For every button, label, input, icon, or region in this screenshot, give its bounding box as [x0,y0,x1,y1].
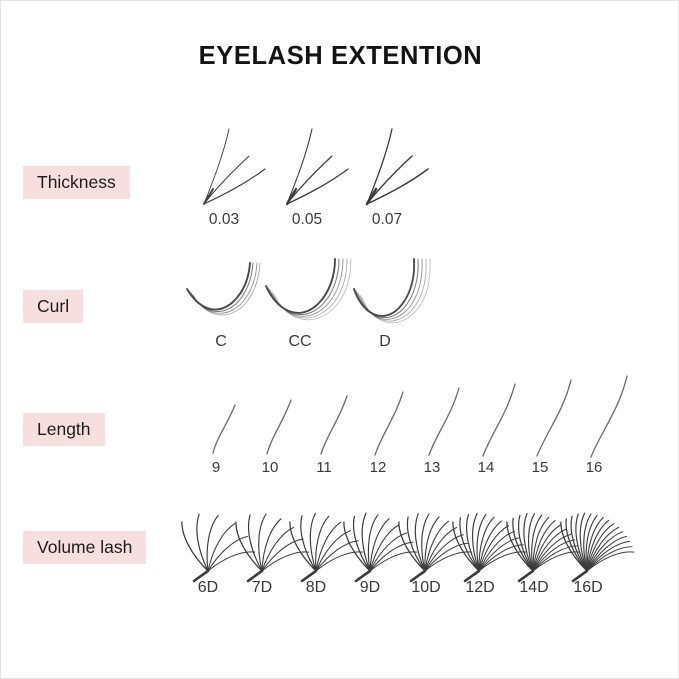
caption-volume-5: 12D [455,579,505,597]
caption-volume-2: 8D [294,579,338,597]
volume-lash-group [1,1,679,679]
caption-volume-1: 7D [240,579,284,597]
eyelash-extension-chart: EYELASH EXTENTION Thickness [0,0,679,679]
caption-volume-3: 9D [348,579,392,597]
caption-volume-7: 16D [563,579,613,597]
caption-volume-6: 14D [509,579,559,597]
caption-volume-4: 10D [401,579,451,597]
caption-volume-0: 6D [186,579,230,597]
